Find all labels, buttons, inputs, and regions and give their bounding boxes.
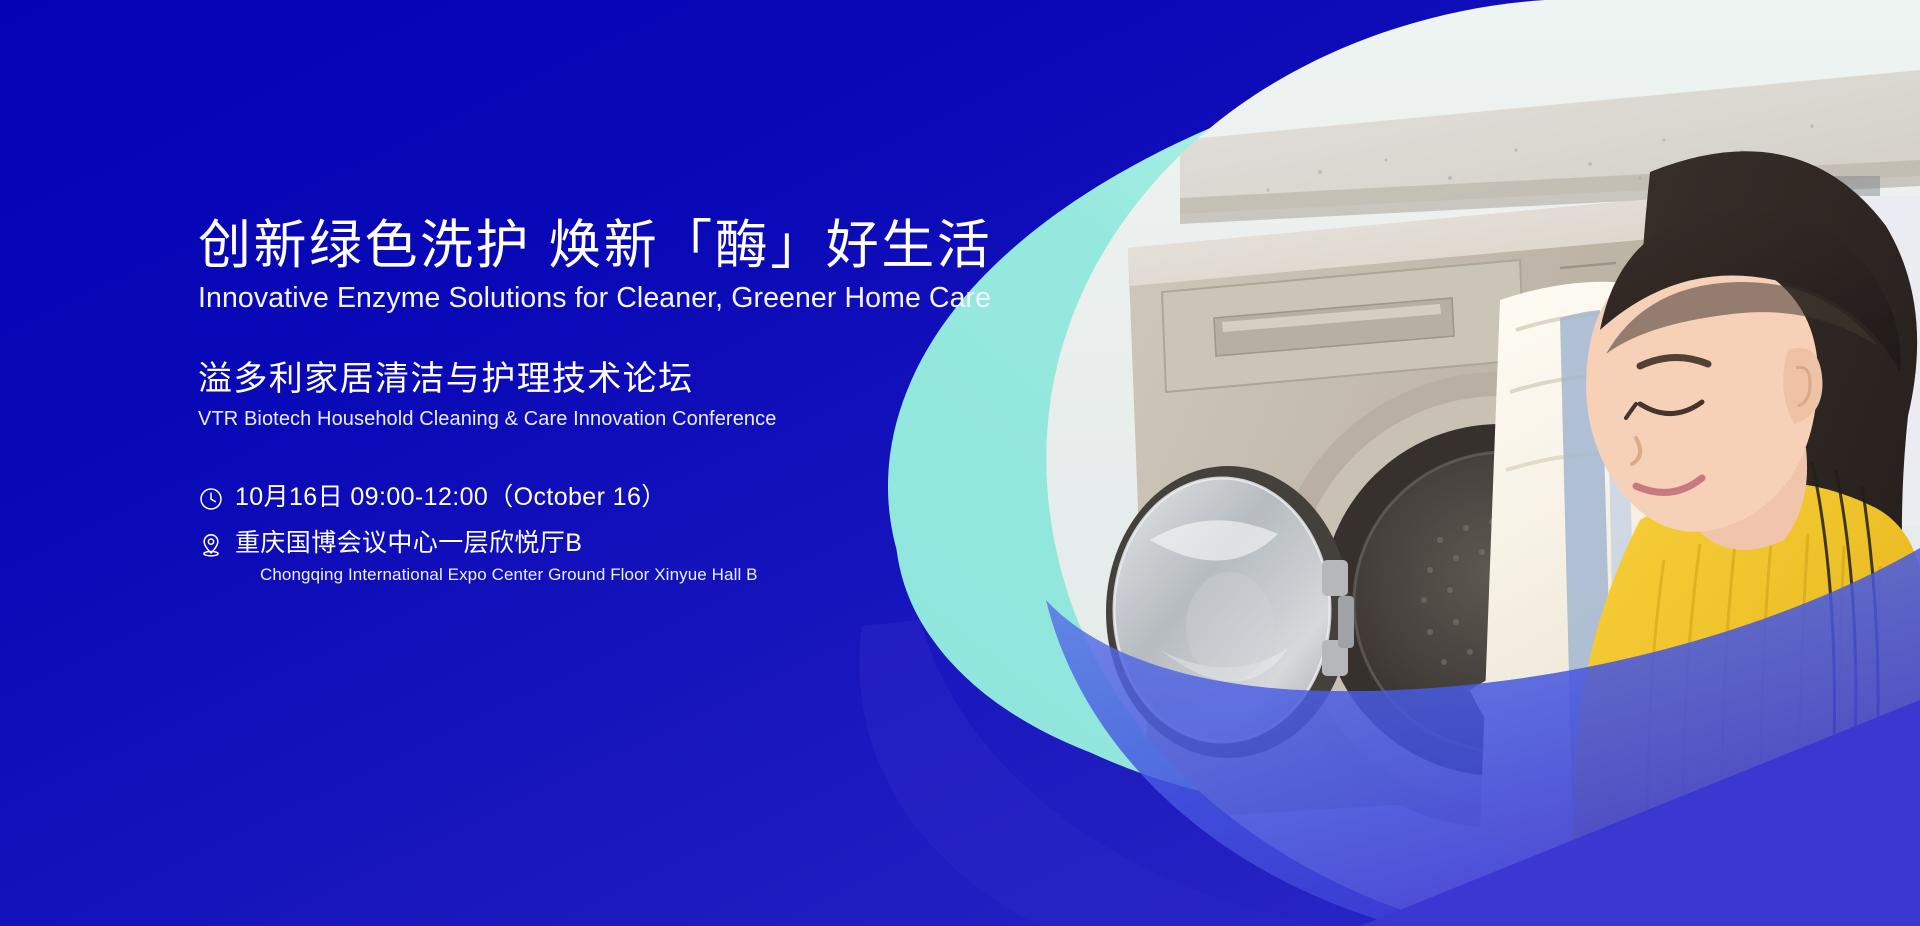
event-location-cn: 重庆国博会议中心一层欣悦厅B	[235, 529, 758, 559]
conference-banner: 创新绿色洗护 焕新「酶」好生活 Innovative Enzyme Soluti…	[0, 0, 1920, 926]
banner-content: 创新绿色洗护 焕新「酶」好生活 Innovative Enzyme Soluti…	[198, 216, 1058, 603]
location-pin-icon	[198, 532, 224, 558]
clock-icon	[198, 486, 224, 512]
event-datetime-row: 10月16日 09:00-12:00（October 16）	[198, 483, 1058, 513]
conference-name-cn: 溢多利家居清洁与护理技术论坛	[198, 359, 1058, 400]
event-details: 10月16日 09:00-12:00（October 16） 重庆国博会议中心一…	[198, 483, 1058, 586]
page-title-cn: 创新绿色洗护 焕新「酶」好生活	[198, 216, 1058, 275]
conference-name-en: VTR Biotech Household Cleaning & Care In…	[198, 407, 1058, 431]
event-location-row: 重庆国博会议中心一层欣悦厅B Chongqing International E…	[198, 529, 1058, 586]
event-datetime-text: 10月16日 09:00-12:00（October 16）	[235, 483, 667, 513]
event-location-en: Chongqing International Expo Center Grou…	[260, 564, 758, 586]
page-title-en: Innovative Enzyme Solutions for Cleaner,…	[198, 282, 1058, 315]
